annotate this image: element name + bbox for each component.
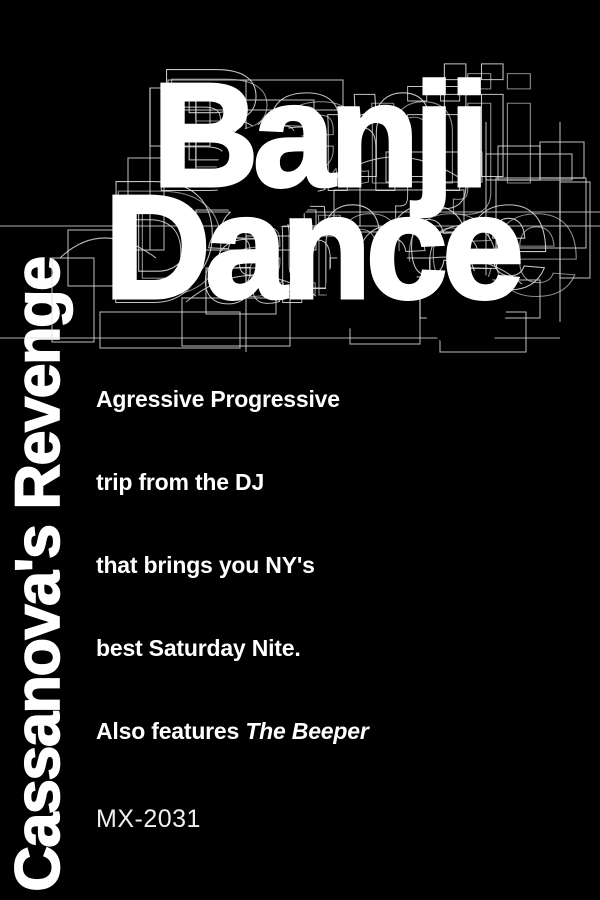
description-line: trip from the DJ xyxy=(96,469,566,552)
description-line: that brings you NY's xyxy=(96,552,566,635)
description-line: Agressive Progressive xyxy=(96,386,566,469)
album-title-block: Banji Banji Banji Banji Dance Dance Danc… xyxy=(0,62,600,327)
artist-name: Cassanova's Revenge xyxy=(13,258,65,892)
album-cover: Cassanova's Revenge xyxy=(0,0,600,900)
title-row-dance: Dance Dance Dance Dance xyxy=(104,174,518,322)
description-line: best Saturday Nite. xyxy=(96,635,566,718)
featured-track-title: The Beeper xyxy=(245,718,368,744)
title-text-dance: Dance xyxy=(104,165,518,330)
description-block: Agressive Progressive trip from the DJ t… xyxy=(96,386,566,801)
catalog-number: MX-2031 xyxy=(96,805,201,834)
featuring-prefix: Also features xyxy=(96,718,245,744)
description-line-featuring: Also features The Beeper xyxy=(96,718,566,801)
